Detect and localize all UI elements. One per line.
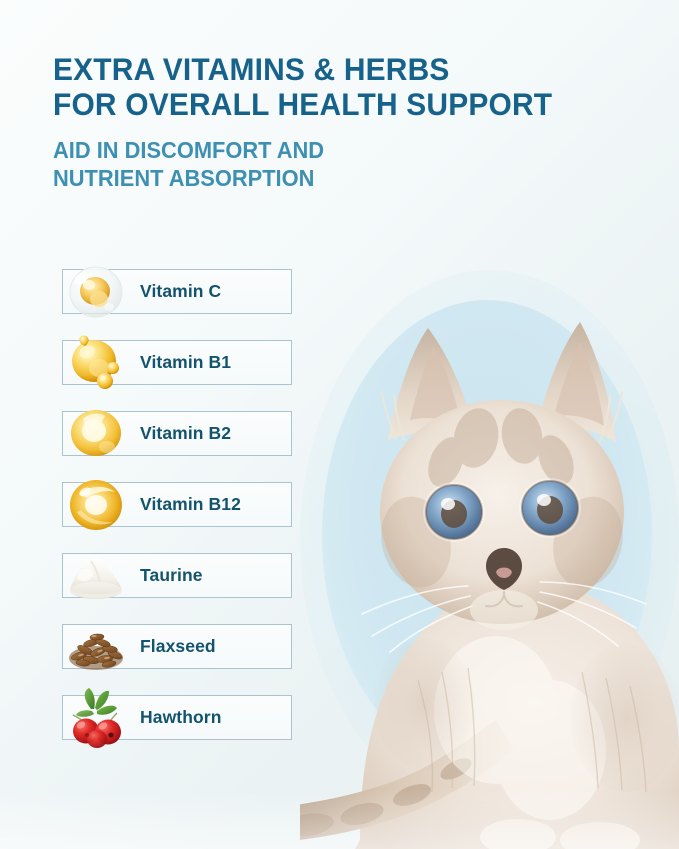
- ingredient-label: Vitamin B2: [140, 411, 231, 456]
- vitamin-c-droplet-icon: [61, 261, 131, 323]
- heading-block: EXTRA VITAMINS & HERBS FOR OVERALL HEALT…: [53, 52, 653, 192]
- list-item: Vitamin B2: [62, 411, 292, 456]
- vitamin-b2-droplet-icon: [61, 403, 131, 465]
- ingredient-label: Vitamin B1: [140, 340, 231, 385]
- flaxseed-seeds-icon: [61, 616, 131, 678]
- ingredient-label: Taurine: [140, 553, 203, 598]
- list-item: Taurine: [62, 553, 292, 598]
- ingredient-label: Hawthorn: [140, 695, 222, 740]
- hawthorn-berries-icon: [61, 687, 131, 749]
- list-item: Vitamin B1: [62, 340, 292, 385]
- vitamin-b1-droplet-icon: [61, 332, 131, 394]
- list-item: Vitamin B12: [62, 482, 292, 527]
- list-item: Flaxseed: [62, 624, 292, 669]
- ingredient-label: Vitamin C: [140, 269, 221, 314]
- vitamin-b12-droplet-icon: [61, 474, 131, 536]
- taurine-powder-icon: [61, 545, 131, 607]
- list-item: Vitamin C: [62, 269, 292, 314]
- ingredient-list: Vitamin C: [62, 269, 292, 766]
- page-subtitle: AID IN DISCOMFORT AND NUTRIENT ABSORPTIO…: [53, 136, 623, 192]
- product-feature-poster: EXTRA VITAMINS & HERBS FOR OVERALL HEALT…: [0, 0, 679, 849]
- list-item: Hawthorn: [62, 695, 292, 740]
- cat-photo: [300, 280, 679, 849]
- ingredient-label: Vitamin B12: [140, 482, 241, 527]
- ingredient-label: Flaxseed: [140, 624, 216, 669]
- page-title: EXTRA VITAMINS & HERBS FOR OVERALL HEALT…: [53, 52, 623, 122]
